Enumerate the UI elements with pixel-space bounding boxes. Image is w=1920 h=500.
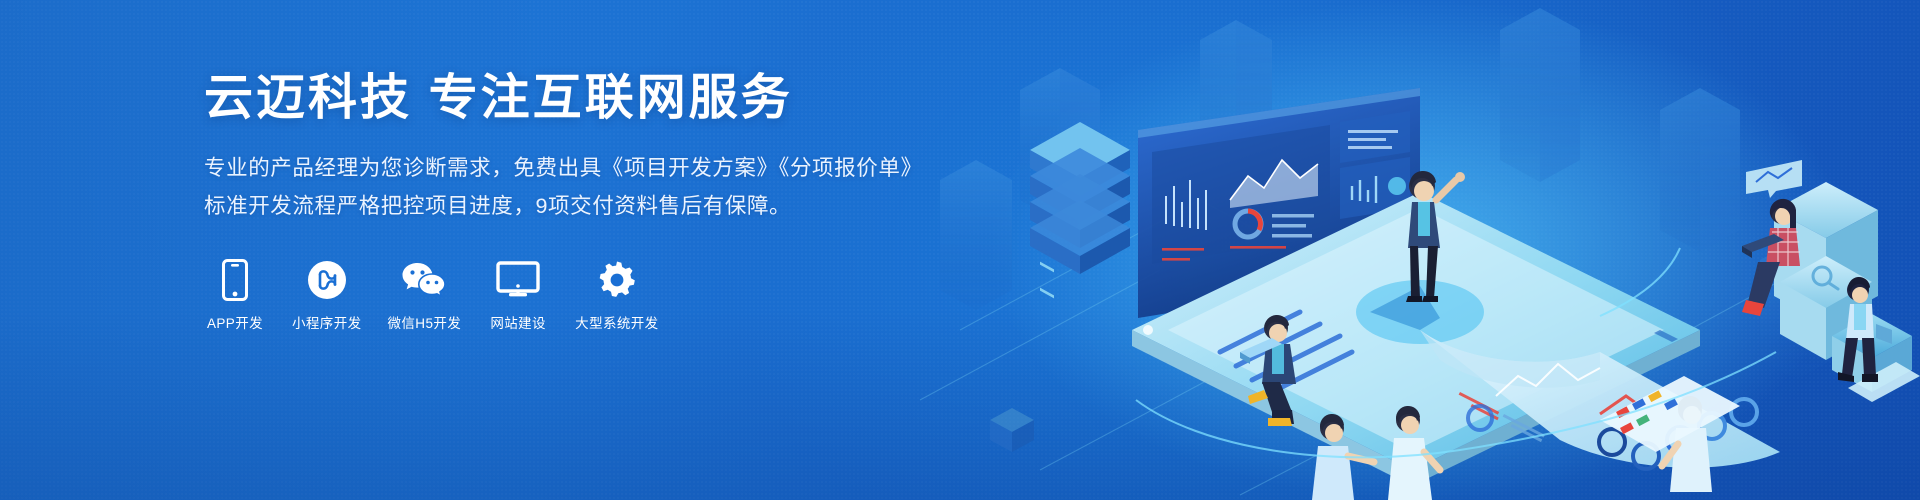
banner-content: 云迈科技 专注互联网服务 专业的产品经理为您诊断需求，免费出具《项目开发方案》《… <box>204 70 924 332</box>
mobile-phone-icon <box>222 259 248 301</box>
service-label-system: 大型系统开发 <box>575 312 658 332</box>
service-item-miniprogram[interactable]: 小程序开发 <box>292 259 362 332</box>
page-title: 云迈科技 专注互联网服务 <box>204 70 924 128</box>
service-item-website[interactable]: 网站建设 <box>487 259 549 332</box>
isometric-tech-illustration <box>900 0 1920 500</box>
service-label-miniprogram: 小程序开发 <box>292 312 362 332</box>
banner-subtitle: 专业的产品经理为您诊断需求，免费出具《项目开发方案》《分项报价单》 标准开发流程… <box>204 150 924 225</box>
mini-program-icon <box>307 259 347 301</box>
service-label-app: APP开发 <box>207 312 263 332</box>
wechat-icon <box>401 259 447 301</box>
subtitle-line-1: 专业的产品经理为您诊断需求，免费出具《项目开发方案》《分项报价单》 <box>204 150 924 187</box>
service-list: APP开发 小程序开发 <box>204 259 924 332</box>
service-item-app[interactable]: APP开发 <box>204 259 266 332</box>
service-label-website: 网站建设 <box>490 312 546 332</box>
gear-icon <box>597 259 637 301</box>
subtitle-line-2: 标准开发流程严格把控项目进度，9项交付资料售后有保障。 <box>204 188 924 225</box>
floating-cubes <box>990 408 1034 452</box>
hero-banner: 云迈科技 专注互联网服务 专业的产品经理为您诊断需求，免费出具《项目开发方案》《… <box>0 0 1920 500</box>
service-item-system[interactable]: 大型系统开发 <box>575 259 658 332</box>
service-item-wechat[interactable]: 微信H5开发 <box>388 259 462 332</box>
service-label-wechat: 微信H5开发 <box>388 312 462 332</box>
monitor-icon <box>496 259 540 301</box>
